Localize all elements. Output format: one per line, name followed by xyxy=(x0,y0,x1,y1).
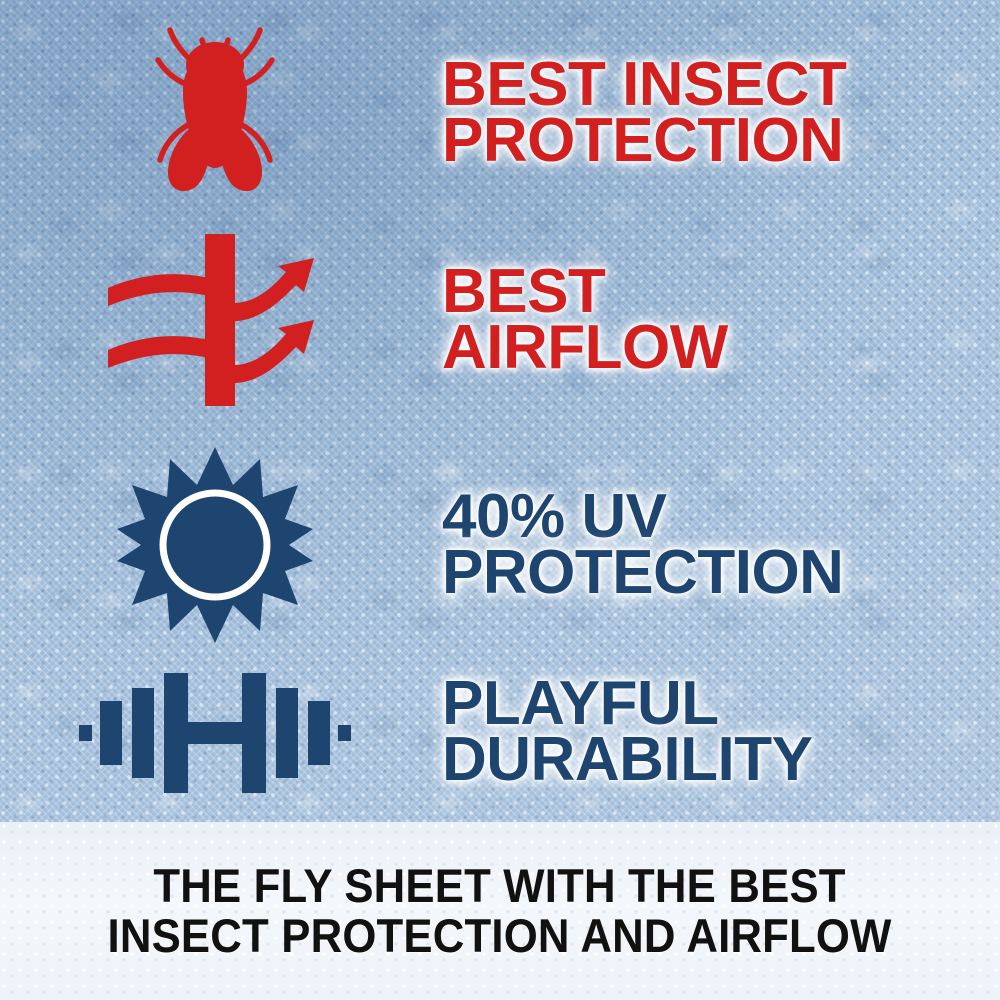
feature-row-insect-protection: BEST INSECT PROTECTION xyxy=(0,10,1000,215)
feature-label-insect-protection: BEST INSECT PROTECTION xyxy=(442,57,1000,169)
feature-text-cell: 40% UV PROTECTION xyxy=(430,489,1000,601)
feature-icon-cell xyxy=(0,20,430,205)
feature-row-uv-protection: 40% UV PROTECTION xyxy=(0,440,1000,650)
feature-text-cell: PLAYFUL DURABILITY xyxy=(430,676,1000,788)
caption-headline: THE FLY SHEET WITH THE BEST INSECT PROTE… xyxy=(108,861,892,961)
feature-text-cell: BEST AIRFLOW xyxy=(430,264,1000,376)
fly-icon xyxy=(140,20,290,205)
feature-icon-cell xyxy=(0,445,430,645)
feature-text-cell: BEST INSECT PROTECTION xyxy=(430,57,1000,169)
feature-row-airflow: BEST AIRFLOW xyxy=(0,222,1000,417)
feature-icon-cell xyxy=(0,230,430,410)
dumbbell-icon xyxy=(79,667,351,797)
feature-label-airflow: BEST AIRFLOW xyxy=(442,264,1000,376)
airflow-icon xyxy=(100,230,330,410)
sun-uv-icon xyxy=(115,445,315,645)
feature-row-durability: PLAYFUL DURABILITY xyxy=(0,662,1000,802)
feature-label-durability: PLAYFUL DURABILITY xyxy=(442,676,1000,788)
feature-label-uv-protection: 40% UV PROTECTION xyxy=(442,489,1000,601)
feature-list: BEST INSECT PROTECTION xyxy=(0,0,1000,822)
product-feature-poster: BEST INSECT PROTECTION xyxy=(0,0,1000,1000)
feature-icon-cell xyxy=(0,667,430,797)
caption-bar: THE FLY SHEET WITH THE BEST INSECT PROTE… xyxy=(0,822,1000,1000)
